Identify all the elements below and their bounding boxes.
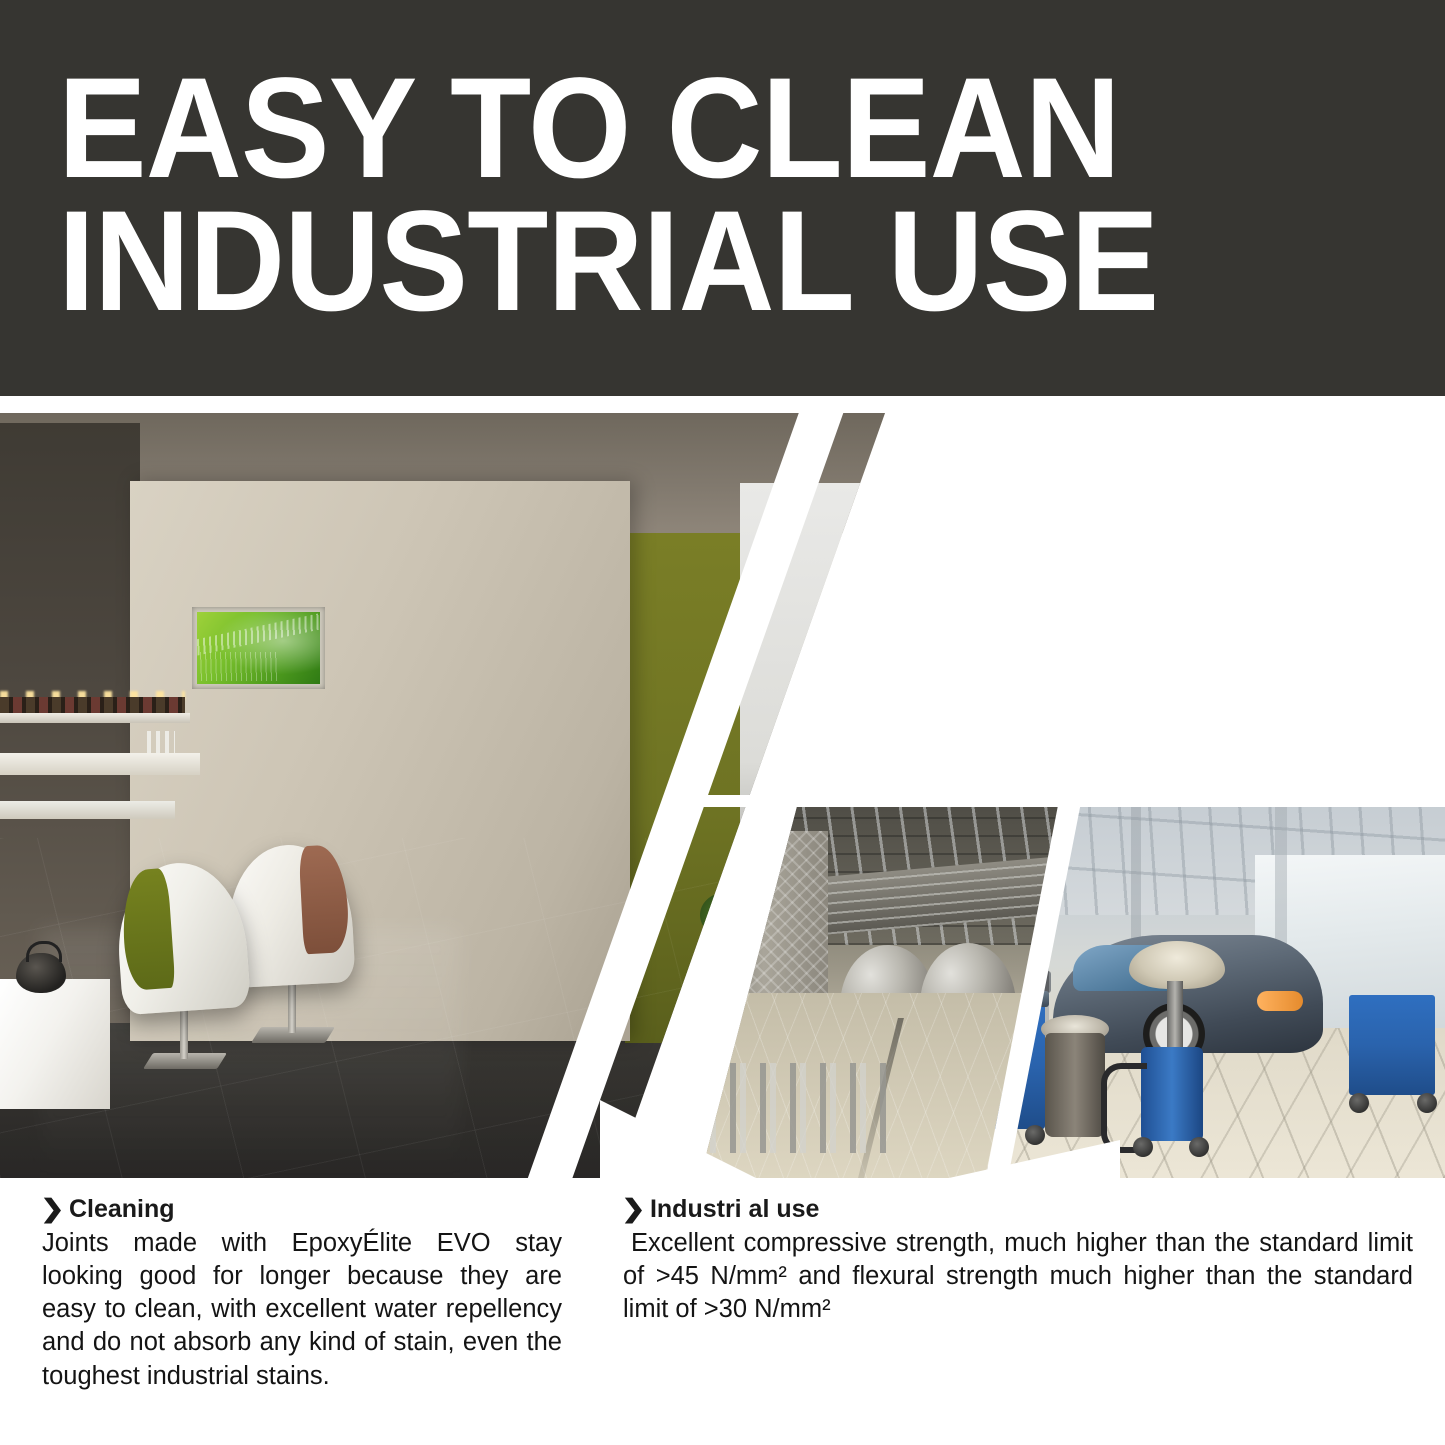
interior-counter-lower	[0, 801, 175, 819]
garage-car-headlight	[1257, 991, 1303, 1011]
kettle-pipe-outer	[888, 645, 963, 760]
fern-artwork-image	[197, 612, 320, 684]
winery-valve-row	[700, 1063, 890, 1153]
interior-counter-top	[0, 753, 200, 775]
garage-oil-drainer-tank	[1141, 1047, 1203, 1141]
photo-brewery	[866, 413, 1445, 796]
kettle-highlight-right	[1157, 626, 1296, 744]
garage-caster-4	[1189, 1137, 1209, 1157]
copper-brew-kettle-body	[926, 733, 1338, 796]
interior-shelf	[0, 713, 190, 723]
caption-cleaning-heading-text: Cleaning	[69, 1195, 175, 1223]
garage-waste-drum	[1045, 1033, 1105, 1137]
kettle-far-body	[1174, 597, 1350, 643]
brewery-tiled-wall	[1335, 513, 1445, 743]
caption-area: ❯Cleaning Joints made with EpoxyÉlite EV…	[0, 1194, 1445, 1445]
caption-industrial-heading: ❯Industri al use	[623, 1194, 1413, 1224]
chair-leg-a	[180, 1007, 188, 1059]
copper-brew-kettle-dome	[942, 625, 1322, 750]
caption-cleaning-heading: ❯Cleaning	[42, 1194, 562, 1224]
garage-oil-drainer-stem	[1167, 981, 1183, 1053]
chair-leg-b	[288, 981, 296, 1033]
interior-white-plinth	[0, 979, 110, 1109]
kettle-second-dome	[1154, 553, 1232, 593]
kettle-highlight-left	[981, 642, 1062, 715]
framed-fern-artwork	[192, 607, 325, 689]
garage-caster-3	[1133, 1137, 1153, 1157]
kettle-second-stack	[1166, 425, 1208, 605]
chevron-right-icon: ❯	[621, 1194, 645, 1224]
garage-caster-5	[1349, 1093, 1369, 1113]
brewery-floor	[866, 706, 1445, 796]
kettle-far-stack	[1244, 505, 1272, 575]
kettle-main-neck	[1056, 581, 1206, 651]
image-collage	[0, 413, 1445, 1178]
caption-cleaning: ❯Cleaning Joints made with EpoxyÉlite EV…	[42, 1194, 562, 1393]
headline-line-1: EASY TO CLEAN	[58, 57, 1120, 200]
caption-industrial-body: Excellent compressive strength, much hig…	[623, 1227, 1413, 1326]
kettle-pipe-inner	[896, 657, 961, 760]
caption-industrial-heading-text: Industri al use	[650, 1195, 819, 1223]
kettle-main-stack	[1088, 413, 1134, 603]
brewery-ceiling-structure	[866, 413, 1445, 533]
caption-cleaning-body: Joints made with EpoxyÉlite EVO stay loo…	[42, 1227, 562, 1393]
header-band: EASY TO CLEAN INDUSTRIAL USE	[0, 0, 1445, 396]
garage-caster-6	[1417, 1093, 1437, 1113]
caption-industrial-use: ❯Industri al use Excellent compressive s…	[623, 1194, 1413, 1326]
teapot	[16, 953, 66, 993]
poster-page: EASY TO CLEAN INDUSTRIAL USE	[0, 0, 1445, 1445]
candle-row	[0, 697, 185, 713]
headline-line-2: INDUSTRIAL USE	[58, 190, 1158, 333]
brewery-backdrop	[866, 413, 1445, 796]
garage-tool-cart-right	[1349, 995, 1435, 1095]
chevron-right-icon: ❯	[40, 1194, 64, 1224]
brewery-back-wall	[866, 523, 1445, 703]
kettle-far-dome	[1166, 553, 1356, 611]
garage-caster-2	[1025, 1125, 1045, 1145]
interior-plant-pot	[702, 931, 744, 987]
